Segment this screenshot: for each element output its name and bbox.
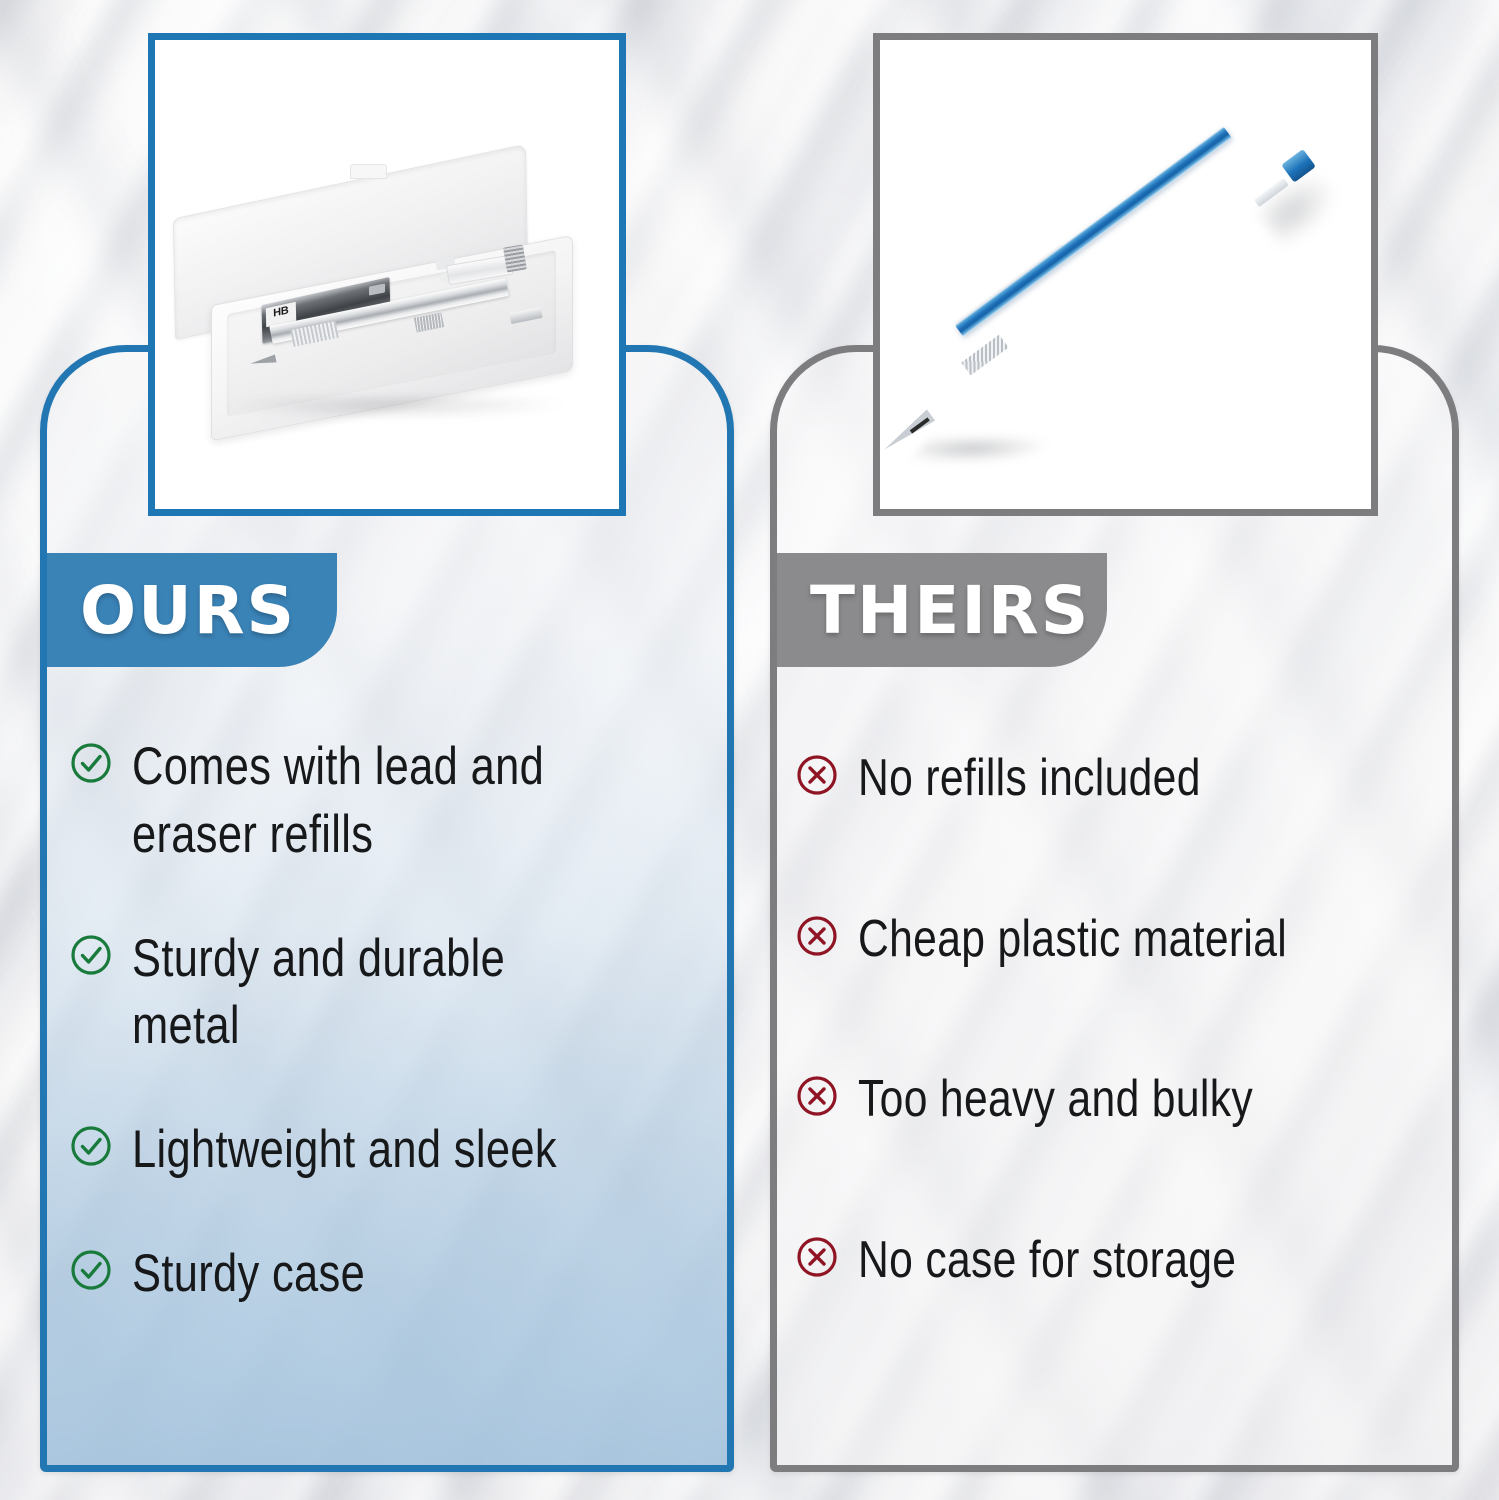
list-item: Lightweight and sleek: [70, 1116, 718, 1184]
check-circle-icon: [70, 742, 112, 784]
cross-circle-icon: [796, 915, 838, 957]
case-lid-tab: [350, 164, 387, 179]
list-item: Cheap plastic material: [796, 906, 1443, 973]
list-item: Comes with lead and eraser refills: [70, 733, 718, 869]
check-circle-icon: [70, 934, 112, 976]
check-circle-icon: [70, 1249, 112, 1291]
list-item-label: Sturdy and durable metal: [132, 925, 505, 1061]
list-item: No refills included: [796, 745, 1443, 812]
ours-product-image: HB: [155, 40, 619, 509]
ours-feature-list: Comes with lead and eraser refills Sturd…: [70, 733, 718, 1364]
list-item: No case for storage: [796, 1227, 1443, 1294]
cross-circle-icon: [796, 1075, 838, 1117]
theirs-banner-label: THEIRS: [777, 572, 1090, 649]
comparison-stage: HB OURS: [0, 0, 1499, 1500]
pencil-tip-shadow: [912, 439, 1053, 462]
case-drop-shadow: [215, 396, 568, 419]
theirs-product-image: [880, 40, 1371, 509]
ours-banner: OURS: [47, 553, 337, 667]
list-item: Sturdy case: [70, 1240, 718, 1308]
pencil-grip: [961, 335, 1008, 376]
theirs-feature-list: No refills included Cheap plastic materi…: [796, 745, 1443, 1387]
list-item-label: Lightweight and sleek: [132, 1116, 557, 1184]
check-circle-icon: [70, 1125, 112, 1167]
list-item: Too heavy and bulky: [796, 1066, 1443, 1133]
list-item-label: Too heavy and bulky: [858, 1066, 1253, 1133]
list-item-label: No refills included: [858, 745, 1201, 812]
list-item: Sturdy and durable metal: [70, 925, 718, 1061]
theirs-banner: THEIRS: [777, 553, 1107, 667]
ours-product-image-card[interactable]: HB: [148, 33, 626, 516]
list-item-label: Cheap plastic material: [858, 906, 1287, 973]
ours-banner-label: OURS: [47, 572, 296, 649]
theirs-column: THEIRS No refills included: [752, 33, 1477, 1472]
cross-circle-icon: [796, 754, 838, 796]
pencil-blue-shaft: [955, 126, 1231, 336]
list-item-label: No case for storage: [858, 1227, 1236, 1294]
list-item-label: Sturdy case: [132, 1240, 365, 1308]
pencil-case-illustration: HB: [155, 40, 619, 509]
cross-circle-icon: [796, 1236, 838, 1278]
list-item-label: Comes with lead and eraser refills: [132, 733, 544, 869]
theirs-product-image-card[interactable]: [873, 33, 1378, 516]
ours-column: HB OURS: [22, 33, 752, 1472]
plastic-pencil-illustration: [880, 40, 1371, 509]
